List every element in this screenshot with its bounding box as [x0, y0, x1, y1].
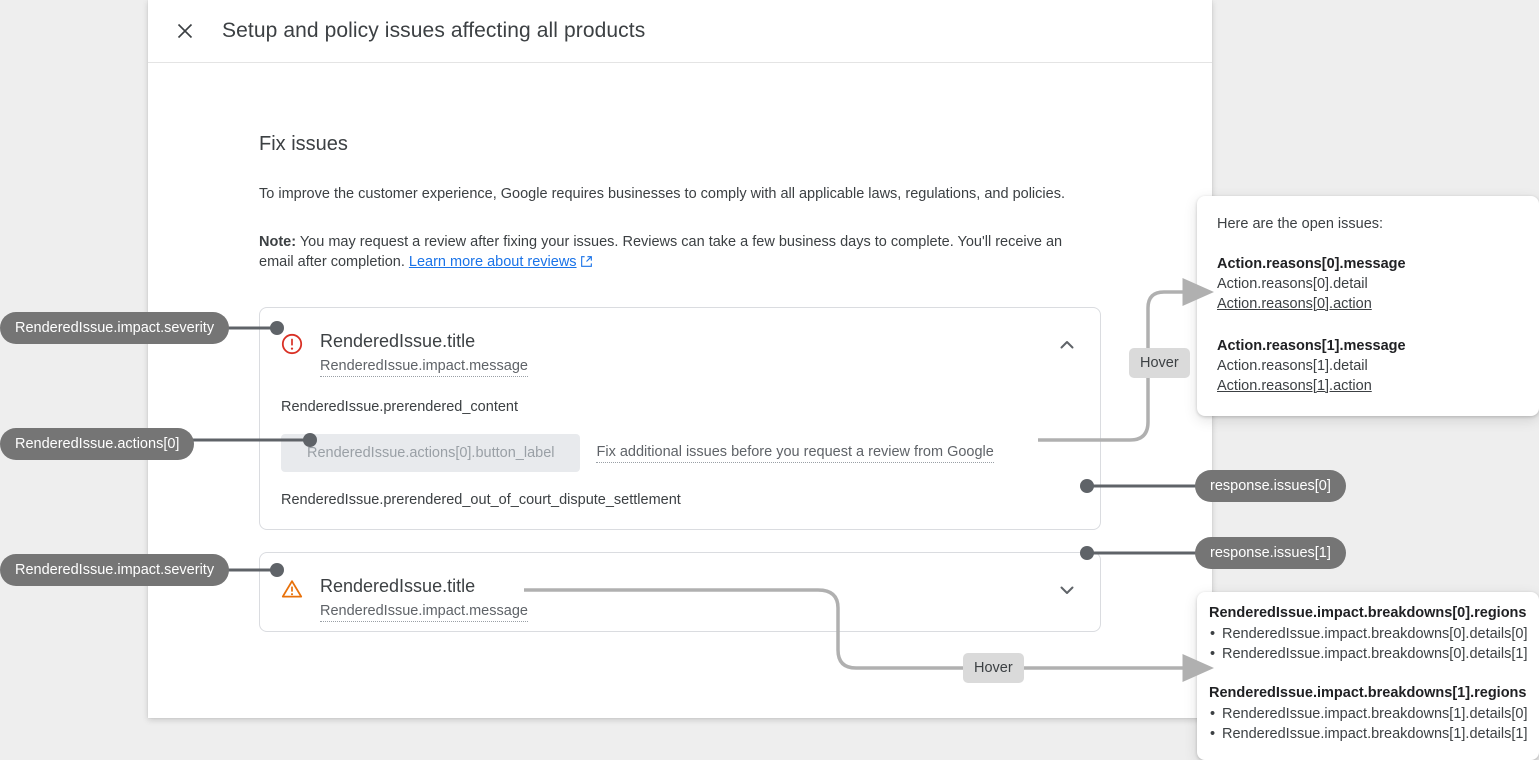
issue-card-header: RenderedIssue.title RenderedIssue.impact…: [260, 308, 1100, 377]
out-of-court-dispute-settlement-text: RenderedIssue.prerendered_out_of_court_d…: [281, 492, 1100, 508]
reason-action-link[interactable]: Action.reasons[1].action: [1217, 376, 1372, 396]
warning-triangle-icon: [281, 578, 303, 600]
issue-card-header: RenderedIssue.title RenderedIssue.impact…: [260, 553, 1100, 622]
open-issues-tooltip: Here are the open issues: Action.reasons…: [1197, 196, 1539, 416]
note-body: You may request a review after fixing yo…: [259, 234, 1062, 270]
learn-more-link[interactable]: Learn more about reviews: [409, 254, 577, 270]
list-item: RenderedIssue.impact.breakdowns[1].detai…: [1209, 704, 1525, 724]
issue-card[interactable]: RenderedIssue.title RenderedIssue.impact…: [259, 552, 1101, 632]
chevron-up-icon[interactable]: [1055, 333, 1079, 357]
impact-breakdowns-tooltip: RenderedIssue.impact.breakdowns[0].regio…: [1197, 592, 1539, 760]
issue-card[interactable]: RenderedIssue.title RenderedIssue.impact…: [259, 307, 1101, 530]
action-hint-text: Fix additional issues before you request…: [596, 444, 993, 463]
annotation-pill-severity-1[interactable]: RenderedIssue.impact.severity: [0, 312, 229, 344]
list-item: RenderedIssue.impact.breakdowns[1].detai…: [1209, 724, 1525, 744]
breakdown-details-list: RenderedIssue.impact.breakdowns[0].detai…: [1209, 624, 1525, 664]
list-item: RenderedIssue.impact.breakdowns[0].detai…: [1209, 644, 1525, 664]
annotation-pill-actions-0[interactable]: RenderedIssue.actions[0]: [0, 428, 194, 460]
reason-detail: Action.reasons[1].detail: [1217, 356, 1519, 376]
dialog-header: Setup and policy issues affecting all pr…: [148, 0, 1212, 63]
issue-action-row: RenderedIssue.actions[0].button_label Fi…: [281, 434, 1100, 472]
chevron-down-icon[interactable]: [1055, 578, 1079, 602]
annotation-pill-response-issues-0[interactable]: response.issues[0]: [1195, 470, 1346, 502]
issue-card-text: RenderedIssue.title RenderedIssue.impact…: [320, 575, 528, 622]
tooltip-lead-text: Here are the open issues:: [1217, 216, 1519, 232]
issue-card-text: RenderedIssue.title RenderedIssue.impact…: [320, 330, 528, 377]
breakdown-block: RenderedIssue.impact.breakdowns[0].regio…: [1209, 602, 1525, 664]
breakdown-block: RenderedIssue.impact.breakdowns[1].regio…: [1209, 682, 1525, 744]
note-label: Note:: [259, 234, 296, 250]
prerendered-content: RenderedIssue.prerendered_content: [281, 399, 1100, 415]
intro-paragraph: To improve the customer experience, Goog…: [259, 184, 1212, 204]
issue-card-list: RenderedIssue.title RenderedIssue.impact…: [259, 307, 1212, 632]
issues-dialog: Setup and policy issues affecting all pr…: [148, 0, 1212, 718]
reason-block: Action.reasons[1].message Action.reasons…: [1217, 336, 1519, 396]
reason-message: Action.reasons[0].message: [1217, 254, 1519, 274]
close-icon[interactable]: [170, 16, 200, 46]
breakdown-regions: RenderedIssue.impact.breakdowns[1].regio…: [1209, 682, 1525, 704]
issue-title: RenderedIssue.title: [320, 330, 528, 352]
breakdown-details-list: RenderedIssue.impact.breakdowns[1].detai…: [1209, 704, 1525, 744]
reason-detail: Action.reasons[0].detail: [1217, 274, 1519, 294]
hover-badge: Hover: [1129, 348, 1190, 378]
list-item: RenderedIssue.impact.breakdowns[0].detai…: [1209, 624, 1525, 644]
reason-block: Action.reasons[0].message Action.reasons…: [1217, 254, 1519, 314]
error-circle-icon: [281, 333, 303, 355]
note-paragraph: Note: You may request a review after fix…: [259, 232, 1095, 274]
reason-action-link[interactable]: Action.reasons[0].action: [1217, 294, 1372, 314]
hover-badge: Hover: [963, 653, 1024, 683]
annotation-pill-response-issues-1[interactable]: response.issues[1]: [1195, 537, 1346, 569]
external-link-icon[interactable]: [580, 254, 593, 274]
dialog-title: Setup and policy issues affecting all pr…: [222, 19, 645, 43]
breakdown-regions: RenderedIssue.impact.breakdowns[0].regio…: [1209, 602, 1525, 624]
issue-impact-message: RenderedIssue.impact.message: [320, 603, 528, 622]
annotation-pill-severity-2[interactable]: RenderedIssue.impact.severity: [0, 554, 229, 586]
issue-title: RenderedIssue.title: [320, 575, 528, 597]
dialog-body: Fix issues To improve the customer exper…: [148, 63, 1212, 632]
request-review-button[interactable]: RenderedIssue.actions[0].button_label: [281, 434, 580, 472]
issue-impact-message: RenderedIssue.impact.message: [320, 358, 528, 377]
page-title: Fix issues: [259, 133, 1212, 156]
reason-message: Action.reasons[1].message: [1217, 336, 1519, 356]
